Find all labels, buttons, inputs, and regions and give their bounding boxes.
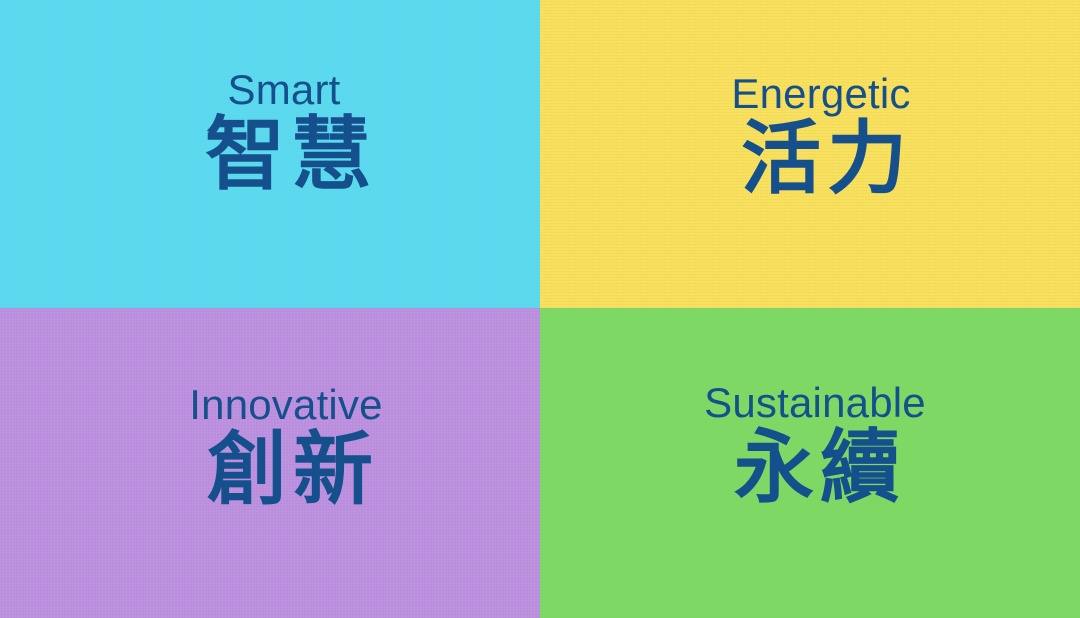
panel-smart[interactable]: Smart 智慧 xyxy=(0,0,540,308)
panel-sustainable[interactable]: Sustainable 永續 xyxy=(540,308,1080,618)
panel-sustainable-text-block: Sustainable 永續 xyxy=(704,382,926,508)
panel-smart-latin-label: Smart xyxy=(227,69,340,111)
panel-energetic[interactable]: Energetic 活力 xyxy=(540,0,1080,308)
brand-values-poster: Smart 智慧 Energetic 活力 Innovative 創新 Sust… xyxy=(0,0,1080,618)
panel-innovative-latin-label: Innovative xyxy=(189,384,382,426)
panel-innovative-cjk-label: 創新 xyxy=(207,430,379,510)
panel-smart-text-block: Smart 智慧 xyxy=(191,69,377,195)
panel-innovative-text-block: Innovative 創新 xyxy=(189,384,382,510)
panel-innovative[interactable]: Innovative 創新 xyxy=(0,308,540,618)
panel-sustainable-cjk-label: 永續 xyxy=(734,428,906,508)
panel-energetic-cjk-label: 活力 xyxy=(741,119,913,199)
quadrant-grid: Smart 智慧 Energetic 活力 Innovative 創新 Sust… xyxy=(0,0,1080,618)
panel-energetic-latin-label: Energetic xyxy=(731,73,910,115)
panel-smart-cjk-label: 智慧 xyxy=(205,115,377,195)
panel-sustainable-latin-label: Sustainable xyxy=(704,382,926,424)
panel-energetic-text-block: Energetic 活力 xyxy=(729,73,913,199)
